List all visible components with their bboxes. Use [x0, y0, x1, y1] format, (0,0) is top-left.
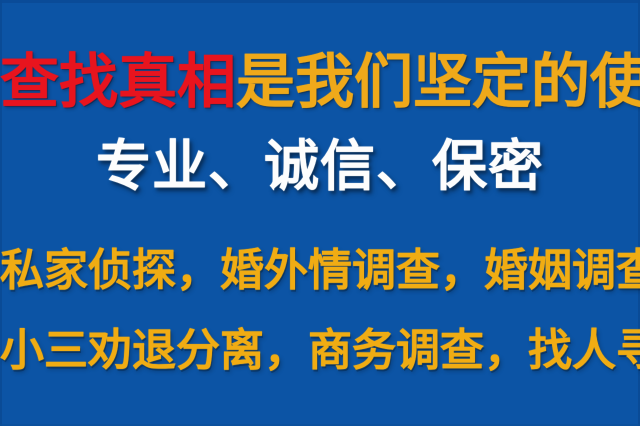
- headline-emphasis-text: 查找真相: [0, 52, 236, 111]
- headline-rest-text: 是我们坚定的使命: [236, 52, 640, 111]
- slogan-text: 专业、诚信、保密: [0, 139, 640, 201]
- services-line-2: 小三劝退分离，商务调查，找人寻人: [0, 329, 640, 381]
- services-line-1: 私家侦探，婚外情调查，婚姻调查，: [0, 249, 640, 301]
- poster-top-edge-shade: [0, 0, 640, 3]
- headline: 查找真相是我们坚定的使命: [0, 52, 640, 116]
- advertisement-poster: 查找真相是我们坚定的使命 专业、诚信、保密 私家侦探，婚外情调查，婚姻调查， 小…: [0, 0, 640, 426]
